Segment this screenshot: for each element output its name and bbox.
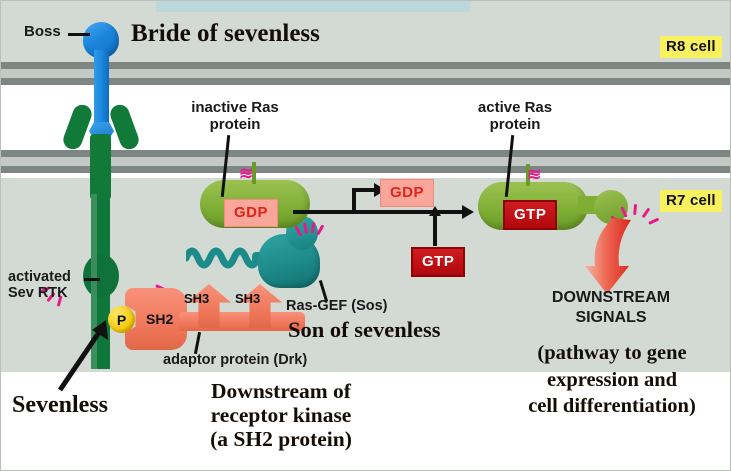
receptor-arm-right	[108, 102, 142, 152]
adaptor-linker	[179, 312, 305, 331]
active-ras-lipid-tail: ≋	[527, 166, 541, 183]
drk-expansion: Downstream of receptor kinase (a SH2 pro…	[166, 379, 396, 451]
sevenless-bottom-label: Sevenless	[12, 392, 108, 419]
r8-cell-tag: R8 cell	[660, 36, 722, 58]
inactive-ras-lipid-tail: ≋	[239, 165, 253, 182]
inactive-ras-label: inactive Ras protein	[170, 100, 300, 134]
boss-full-name: Bride of sevenless	[131, 20, 320, 48]
boss-leader-line	[68, 33, 90, 36]
ras-activation-arrow-head	[462, 205, 474, 219]
top-banner-strip	[156, 0, 470, 12]
son-of-sevenless-label: Son of sevenless	[288, 317, 441, 342]
gdp-release-arrow-bend	[352, 188, 376, 192]
receptor-activation-spark-right	[128, 252, 150, 274]
released-gdp-box: GDP	[380, 179, 434, 207]
inactive-ras-gdp-box: GDP	[224, 199, 278, 227]
sev-rtk-leader-line	[84, 278, 100, 281]
ras-gef-caption: Ras-GEF (Sos)	[286, 298, 388, 314]
active-ras-label: active Ras protein	[450, 100, 580, 134]
gtp-loading-arrow-head	[429, 206, 441, 216]
r7-cell-tag: R7 cell	[660, 190, 722, 212]
boss-label: Boss	[24, 24, 61, 41]
gtp-loading-arrow-shaft	[433, 214, 437, 246]
downstream-signals-headline: DOWNSTREAM SIGNALS	[516, 288, 706, 328]
receptor-neck	[90, 134, 111, 200]
activated-sev-rtk-label: activated Sev RTK	[8, 269, 71, 301]
loaded-gtp-box: GTP	[411, 247, 465, 277]
sh2-domain-label: SH2	[146, 311, 173, 327]
sevenless-pointer-arrow	[50, 318, 120, 398]
drk-caption: adaptor protein (Drk)	[163, 352, 307, 368]
active-ras-gtp-box: GTP	[503, 200, 557, 230]
downstream-detail-text: (pathway to gene expression and cell dif…	[496, 340, 728, 420]
receptor-kinase-domain	[83, 254, 119, 298]
downstream-signal-arrow	[583, 218, 635, 296]
figure-canvas: R8 cell R7 cell Boss Bride of sevenless …	[0, 0, 731, 471]
